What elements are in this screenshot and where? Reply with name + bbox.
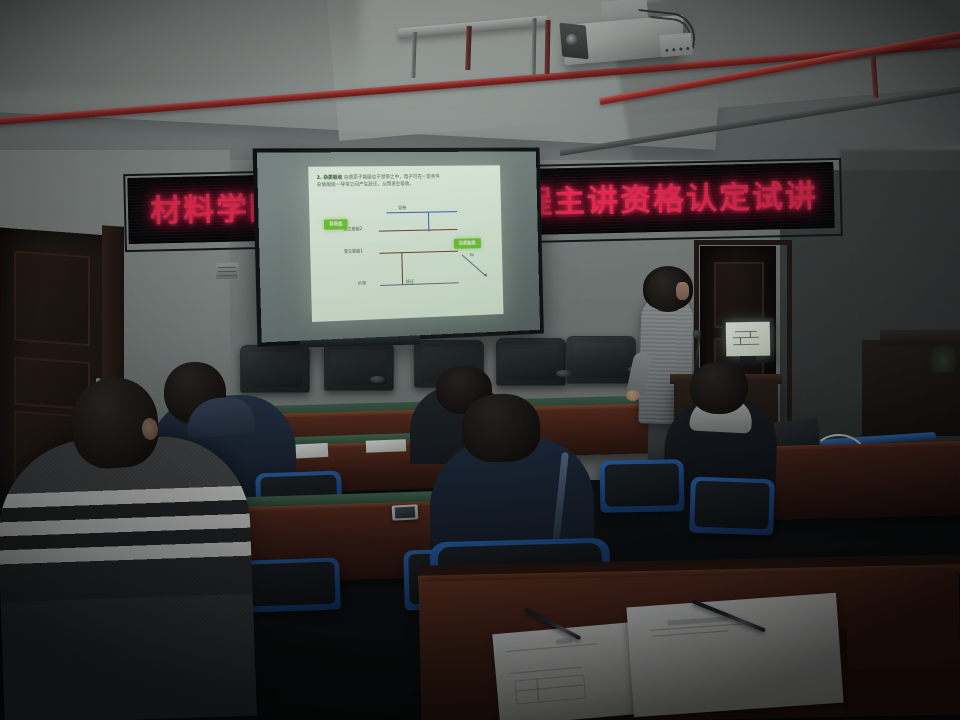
paper-sheet-right[interactable] <box>626 593 843 717</box>
student-dark-navy <box>461 393 541 464</box>
slide-heading: 2. 杂质吸收 杂质原子能级位于禁带之中，电子可在一定条件 杂质能级一导带之间产… <box>317 173 495 189</box>
side-cabinet-top <box>880 330 960 346</box>
lecture-hall-photo: 材料学院2 程主讲资格认定试讲 2. 杂质吸收 杂质原子能级位于禁带之中，电子可… <box>0 0 960 720</box>
energy-level-diagram: 导带 施主能级2 受主能级1 价带 跃迁 导带底 杂质能级 hν <box>309 199 503 316</box>
slide-highlight-left: 导带底 <box>324 219 348 230</box>
level-label-conduction: 导带 <box>398 205 406 211</box>
handout-paper-2[interactable] <box>366 439 406 452</box>
paper-sheet-left[interactable] <box>492 622 641 720</box>
student-white-hood <box>690 362 748 414</box>
podium-monitor[interactable] <box>726 322 771 357</box>
slide-heading-number: 2. <box>317 176 322 181</box>
slide-heading-title: 杂质吸收 <box>323 176 342 181</box>
monitor-stand <box>740 356 756 366</box>
level-label-acceptor: 受主能级1 <box>344 248 363 255</box>
ceiling-shadow-left <box>0 0 360 90</box>
energy-level-conduction <box>386 211 457 214</box>
student-front-striped-texture <box>0 434 257 720</box>
panel-chair-2[interactable] <box>324 343 394 391</box>
transition-arrow-lower <box>401 252 403 285</box>
level-label-valence: 价带 <box>358 280 366 286</box>
energy-level-valence <box>380 282 459 286</box>
slide-highlight-right: 杂质能级 <box>454 238 481 249</box>
presenter-face <box>676 282 689 300</box>
transition-label: 跃迁 <box>406 279 414 285</box>
energy-level-acceptor <box>379 251 458 255</box>
blue-lecture-chair-3[interactable] <box>689 477 775 536</box>
transition-arrow-upper <box>428 212 430 232</box>
projected-slide: 2. 杂质吸收 杂质原子能级位于禁带之中，电子可在一定条件 杂质能级一导带之间产… <box>308 165 503 322</box>
presenter-hand <box>626 390 640 401</box>
blue-lecture-chair-2[interactable] <box>600 459 685 512</box>
microphone-base-1 <box>370 376 385 383</box>
microphone-base-3 <box>556 370 571 377</box>
wall-control-panel[interactable] <box>215 262 239 280</box>
panel-chair-1[interactable] <box>240 345 310 393</box>
slide-heading-body: 杂质原子能级位于禁带之中，电子可在一定条件 <box>344 175 440 181</box>
panel-chair-4[interactable] <box>496 338 566 386</box>
photon-arrow-head <box>484 273 489 278</box>
mobile-phone-on-desk[interactable] <box>392 504 419 520</box>
led-banner-text-right: 程主讲资格认定试讲 <box>520 170 818 222</box>
projector-lens-icon <box>566 34 578 46</box>
photon-label: hν <box>470 252 475 257</box>
photon-arrow <box>462 255 486 276</box>
podium-microphone-head-icon <box>693 330 701 338</box>
panel-chair-5[interactable] <box>566 336 636 384</box>
energy-level-donor <box>379 229 458 232</box>
pipe-drop-2 <box>545 20 551 74</box>
projector-connector-panel <box>659 33 693 58</box>
slide-heading-body-2: 杂质能级一导带之间产生跃迁，从而发生吸收。 <box>317 182 414 188</box>
potted-plant <box>930 344 956 372</box>
